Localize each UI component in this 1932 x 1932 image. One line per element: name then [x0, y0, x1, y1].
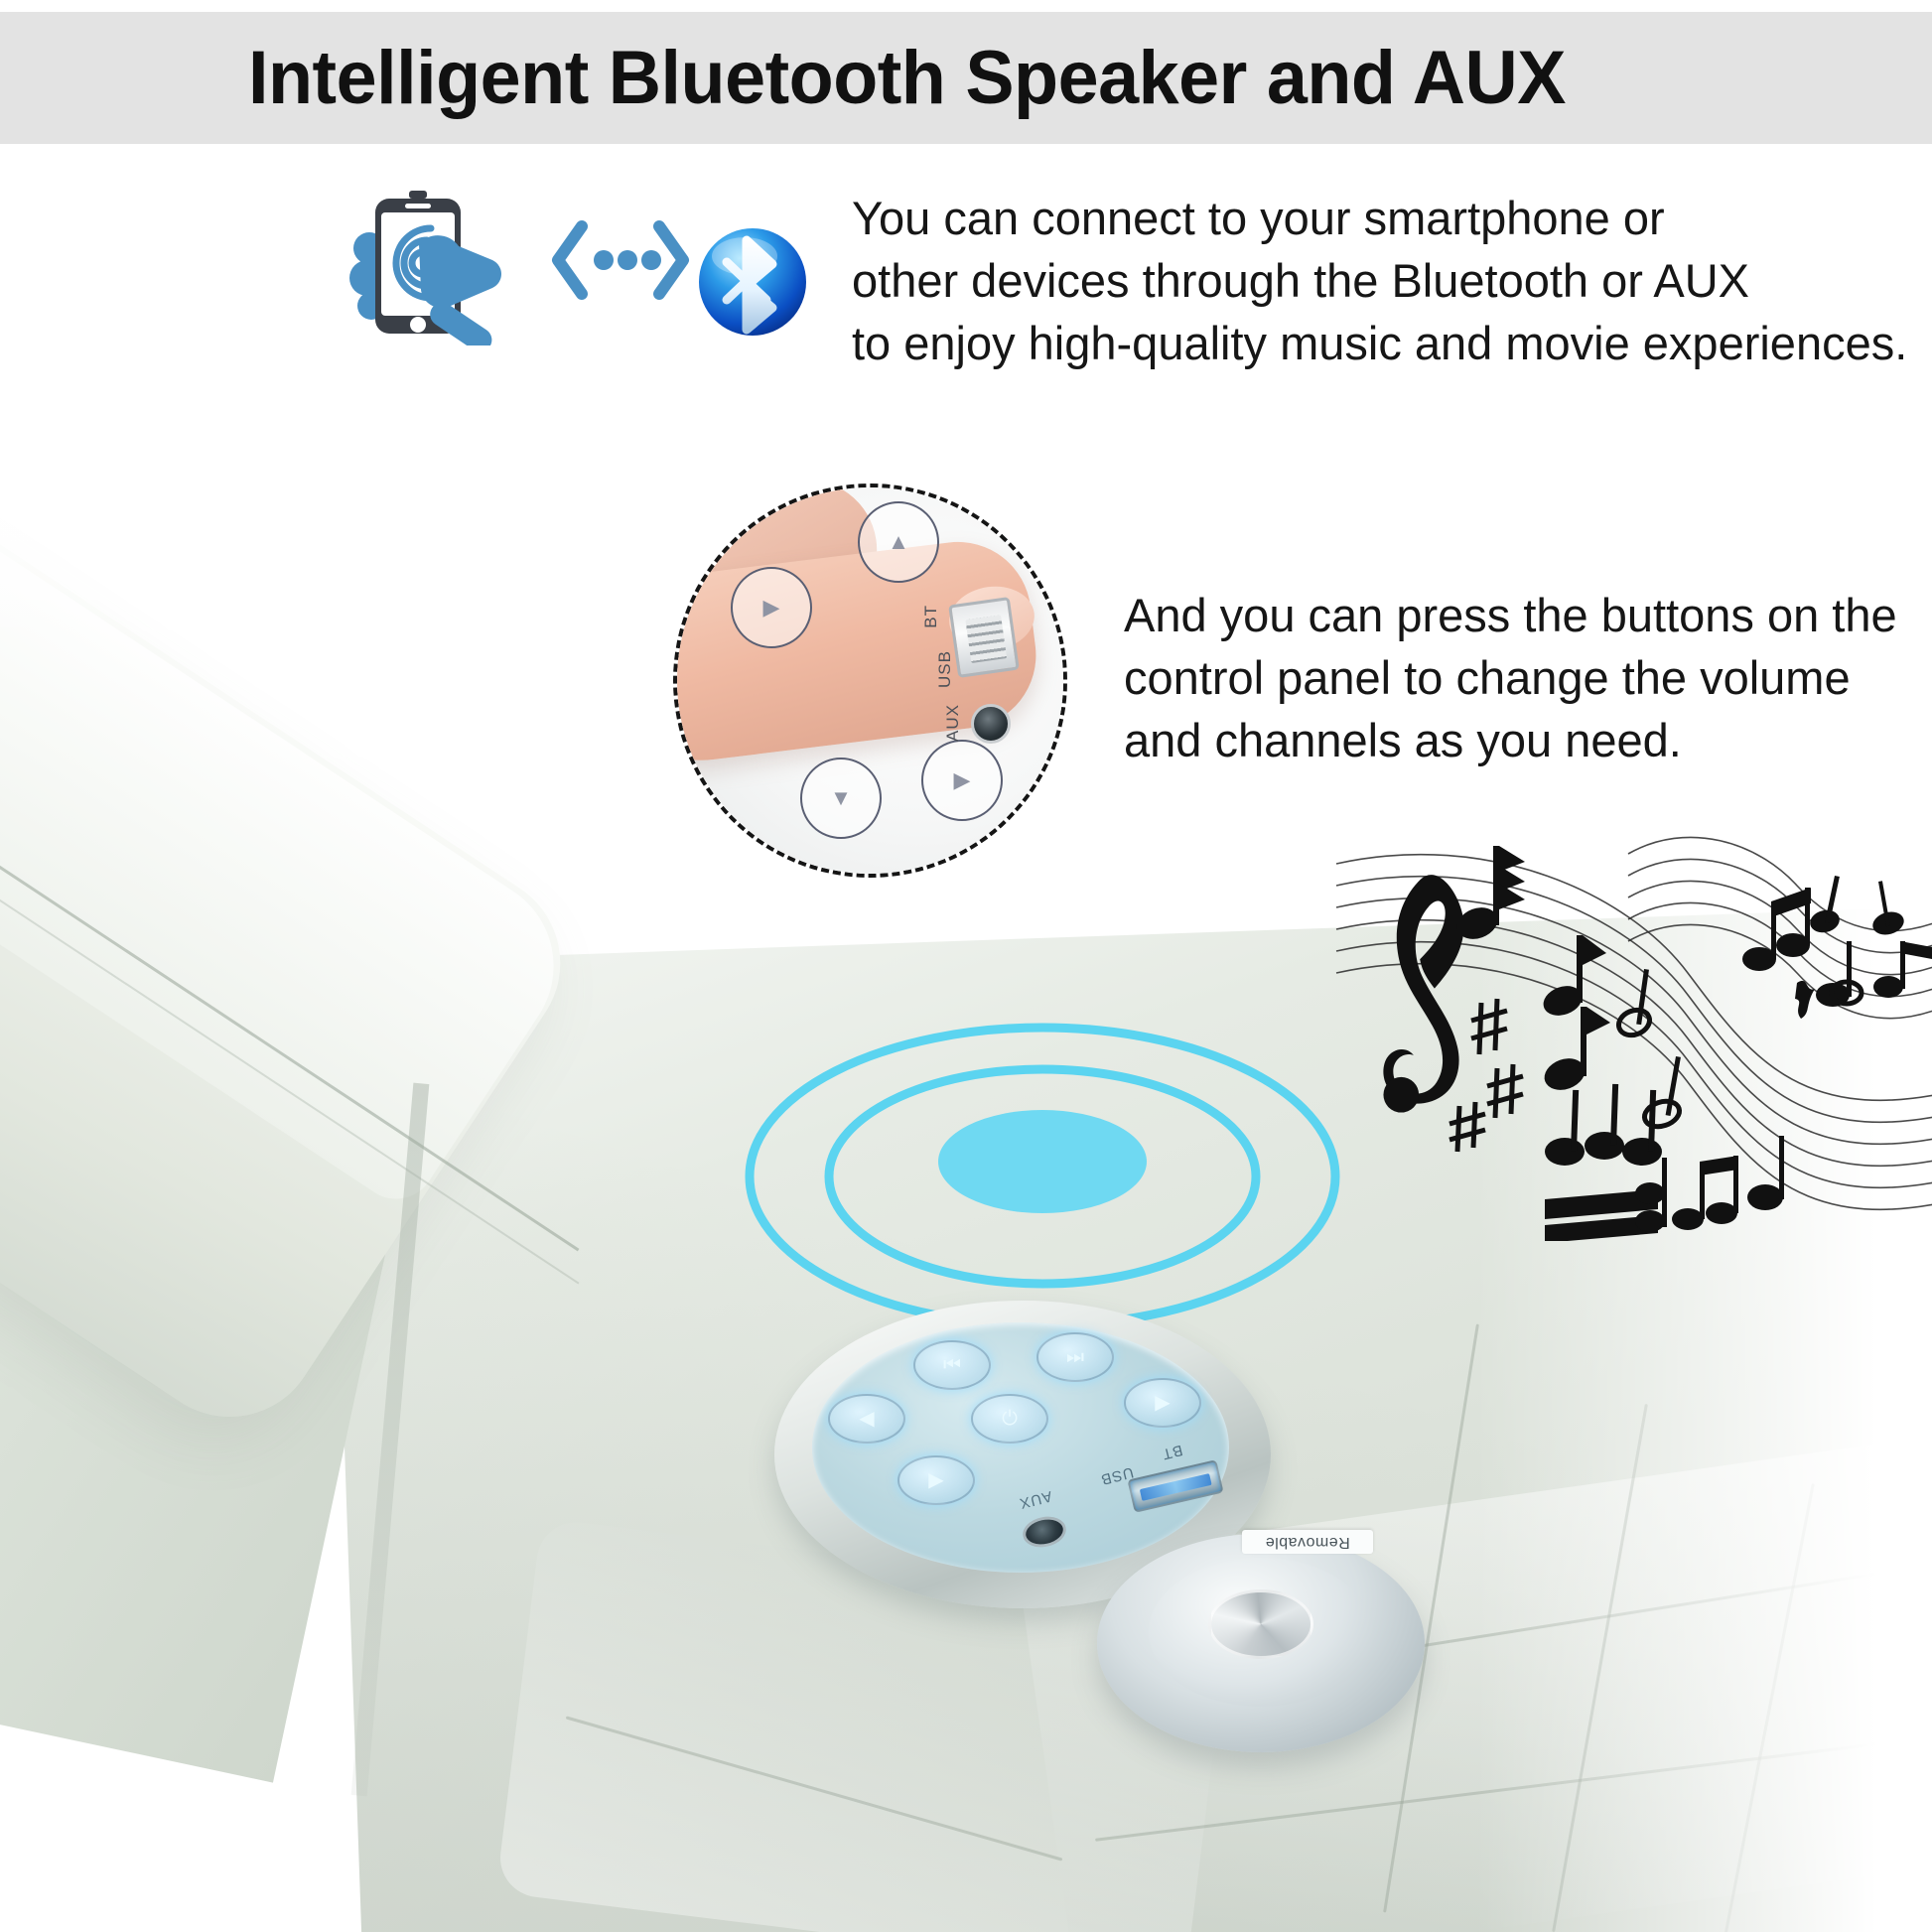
smartphone-touch-icon	[347, 187, 546, 345]
cup-holder-metal-hub	[1208, 1589, 1313, 1659]
title-banner: Intelligent Bluetooth Speaker and AUX	[0, 12, 1932, 144]
aux-jack[interactable]	[1020, 1513, 1068, 1551]
aux-label: AUX	[943, 704, 963, 742]
next-track-button[interactable]: ▶	[731, 567, 812, 648]
cup-holder[interactable]: Removable	[1097, 1534, 1425, 1802]
infographic-canvas: ⏮ ⏭ ◀ ▶ ⏻ ▶ BT USB AUX	[0, 0, 1932, 1932]
volume-up-icon: ▶	[1155, 1393, 1170, 1413]
volume-up-button[interactable]: ▶	[1124, 1378, 1201, 1428]
paragraph-line: to enjoy high-quality music and movie ex…	[852, 312, 1907, 374]
power-icon: ⏻	[1002, 1409, 1018, 1429]
removable-label: Removable	[1242, 1530, 1373, 1554]
connectivity-description: You can connect to your smartphone or ot…	[852, 187, 1907, 374]
paragraph-line: and channels as you need.	[1124, 709, 1897, 771]
aux-label: AUX	[1017, 1487, 1053, 1512]
music-notes-staff	[1330, 824, 1932, 1241]
paragraph-line: other devices through the Bluetooth or A…	[852, 249, 1907, 312]
control-panel-closeup: ▲ ▶ ▼ ▶ BT USB AUX	[673, 483, 1067, 878]
next-track-icon: ▶	[763, 595, 780, 621]
next-track-icon: ⏭	[1066, 1347, 1084, 1367]
previous-track-icon: ⏮	[943, 1355, 961, 1375]
speaker-icon: ▶	[954, 767, 971, 793]
volume-down-button[interactable]: ◀	[828, 1394, 905, 1444]
mode-icon: ▶	[928, 1470, 943, 1490]
bt-label: BT	[1160, 1442, 1184, 1463]
closeup-photo: ▲ ▶ ▼ ▶ BT USB AUX	[673, 483, 1067, 878]
volume-up-icon: ▲	[888, 529, 909, 555]
usb-label: USB	[935, 650, 955, 688]
paragraph-line: And you can press the buttons on the	[1124, 584, 1897, 646]
volume-up-button[interactable]: ▲	[858, 501, 939, 583]
previous-track-button[interactable]: ⏮	[913, 1340, 991, 1390]
paragraph-line: You can connect to your smartphone or	[852, 187, 1907, 249]
usb-port[interactable]	[948, 597, 1020, 678]
volume-down-icon: ▼	[830, 785, 852, 811]
page-title: Intelligent Bluetooth Speaker and AUX	[248, 35, 1566, 121]
mode-button[interactable]: ▶	[897, 1455, 975, 1505]
speaker-button[interactable]: ▶	[921, 740, 1003, 821]
connection-arrows-icon	[546, 212, 695, 308]
bt-label: BT	[921, 605, 941, 628]
volume-down-button[interactable]: ▼	[800, 758, 882, 839]
power-button[interactable]: ⏻	[971, 1394, 1048, 1444]
controls-description: And you can press the buttons on the con…	[1124, 584, 1897, 771]
aux-jack[interactable]	[971, 704, 1011, 744]
paragraph-line: control panel to change the volume	[1124, 646, 1897, 709]
next-track-button[interactable]: ⏭	[1036, 1332, 1114, 1382]
connectivity-icon-row	[347, 179, 824, 328]
volume-down-icon: ◀	[859, 1409, 874, 1429]
bluetooth-logo-icon	[697, 226, 808, 338]
